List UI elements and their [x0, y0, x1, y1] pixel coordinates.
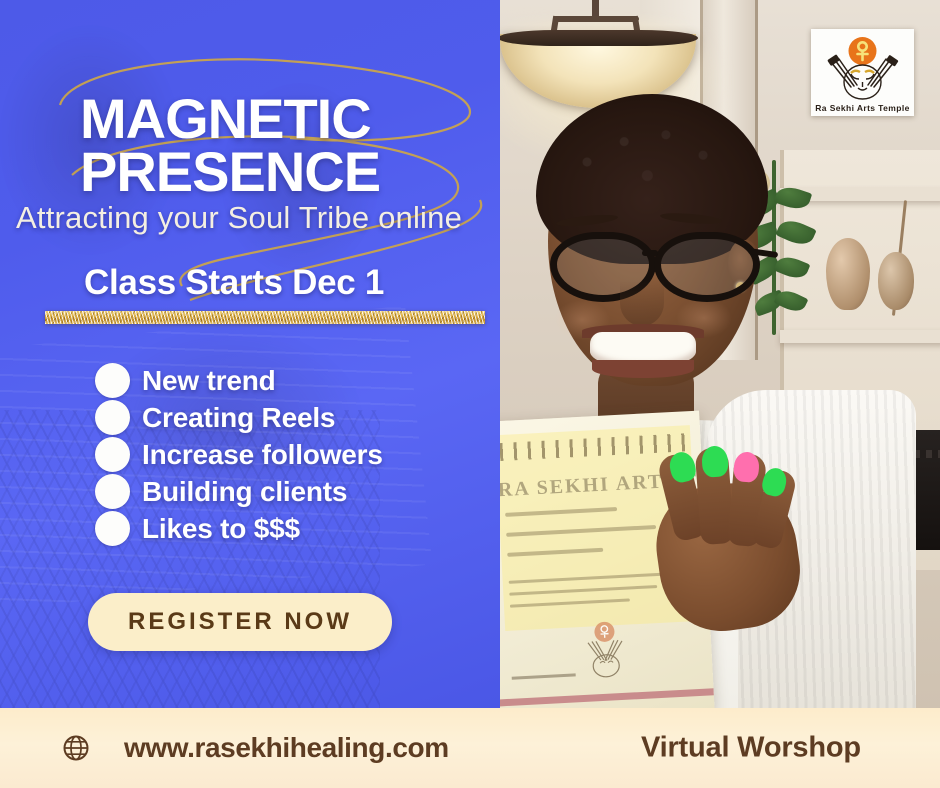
lamp-rim [498, 30, 698, 46]
certificate-signature-line [512, 673, 576, 679]
subtitle: Attracting your Soul Tribe online [16, 200, 500, 236]
person-portrait: RA SEKHI ARTS TEMPLE [470, 60, 870, 710]
certificate-seal-icon [565, 618, 646, 684]
website-url[interactable]: www.rasekhihealing.com [124, 732, 449, 764]
benefits-list: New trend Creating Reels Increase follow… [95, 362, 383, 547]
workshop-label: Virtual Worshop [641, 732, 861, 765]
nose [620, 280, 664, 326]
class-start-date: Class Starts Dec 1 [84, 263, 384, 303]
list-item: Likes to $$$ [95, 510, 383, 547]
list-item: Creating Reels [95, 399, 383, 436]
bullet-dot-icon [95, 511, 130, 546]
gold-glitter-divider [45, 311, 485, 324]
promotional-flyer: RA SEKHI ARTS TEMPLE [0, 0, 940, 788]
headline-line-2: PRESENCE [80, 145, 480, 199]
bullet-dot-icon [95, 437, 130, 472]
fingernail [701, 445, 729, 478]
glasses-bridge [642, 250, 658, 256]
blue-content-panel: MAGNETIC PRESENCE Attracting your Soul T… [0, 0, 500, 710]
lamp-crossbar [553, 16, 639, 22]
brand-logo: Ra Sekhi Arts Temple [811, 29, 914, 116]
list-item-label: New trend [142, 365, 276, 397]
lower-lip [592, 360, 694, 378]
logo-wordmark: Ra Sekhi Arts Temple [815, 103, 909, 113]
hand [636, 448, 804, 638]
footer-bar: www.rasekhihealing.com Virtual Worshop [0, 708, 940, 788]
list-item: Increase followers [95, 436, 383, 473]
list-item-label: Building clients [142, 476, 347, 508]
list-item-label: Increase followers [142, 439, 383, 471]
bullet-dot-icon [95, 400, 130, 435]
list-item: Building clients [95, 473, 383, 510]
bullet-dot-icon [95, 363, 130, 398]
page-title: MAGNETIC PRESENCE [80, 92, 480, 200]
bullet-dot-icon [95, 474, 130, 509]
ra-sekhi-arts-temple-logo-icon: Ra Sekhi Arts Temple [811, 29, 914, 116]
certificate-footer-band [499, 688, 714, 706]
register-now-button[interactable]: REGISTER NOW [88, 593, 392, 651]
list-item-label: Likes to $$$ [142, 513, 300, 545]
globe-icon [62, 734, 90, 762]
lens-right [654, 232, 760, 302]
decor-vase [878, 252, 914, 310]
list-item-label: Creating Reels [142, 402, 335, 434]
list-item: New trend [95, 362, 383, 399]
